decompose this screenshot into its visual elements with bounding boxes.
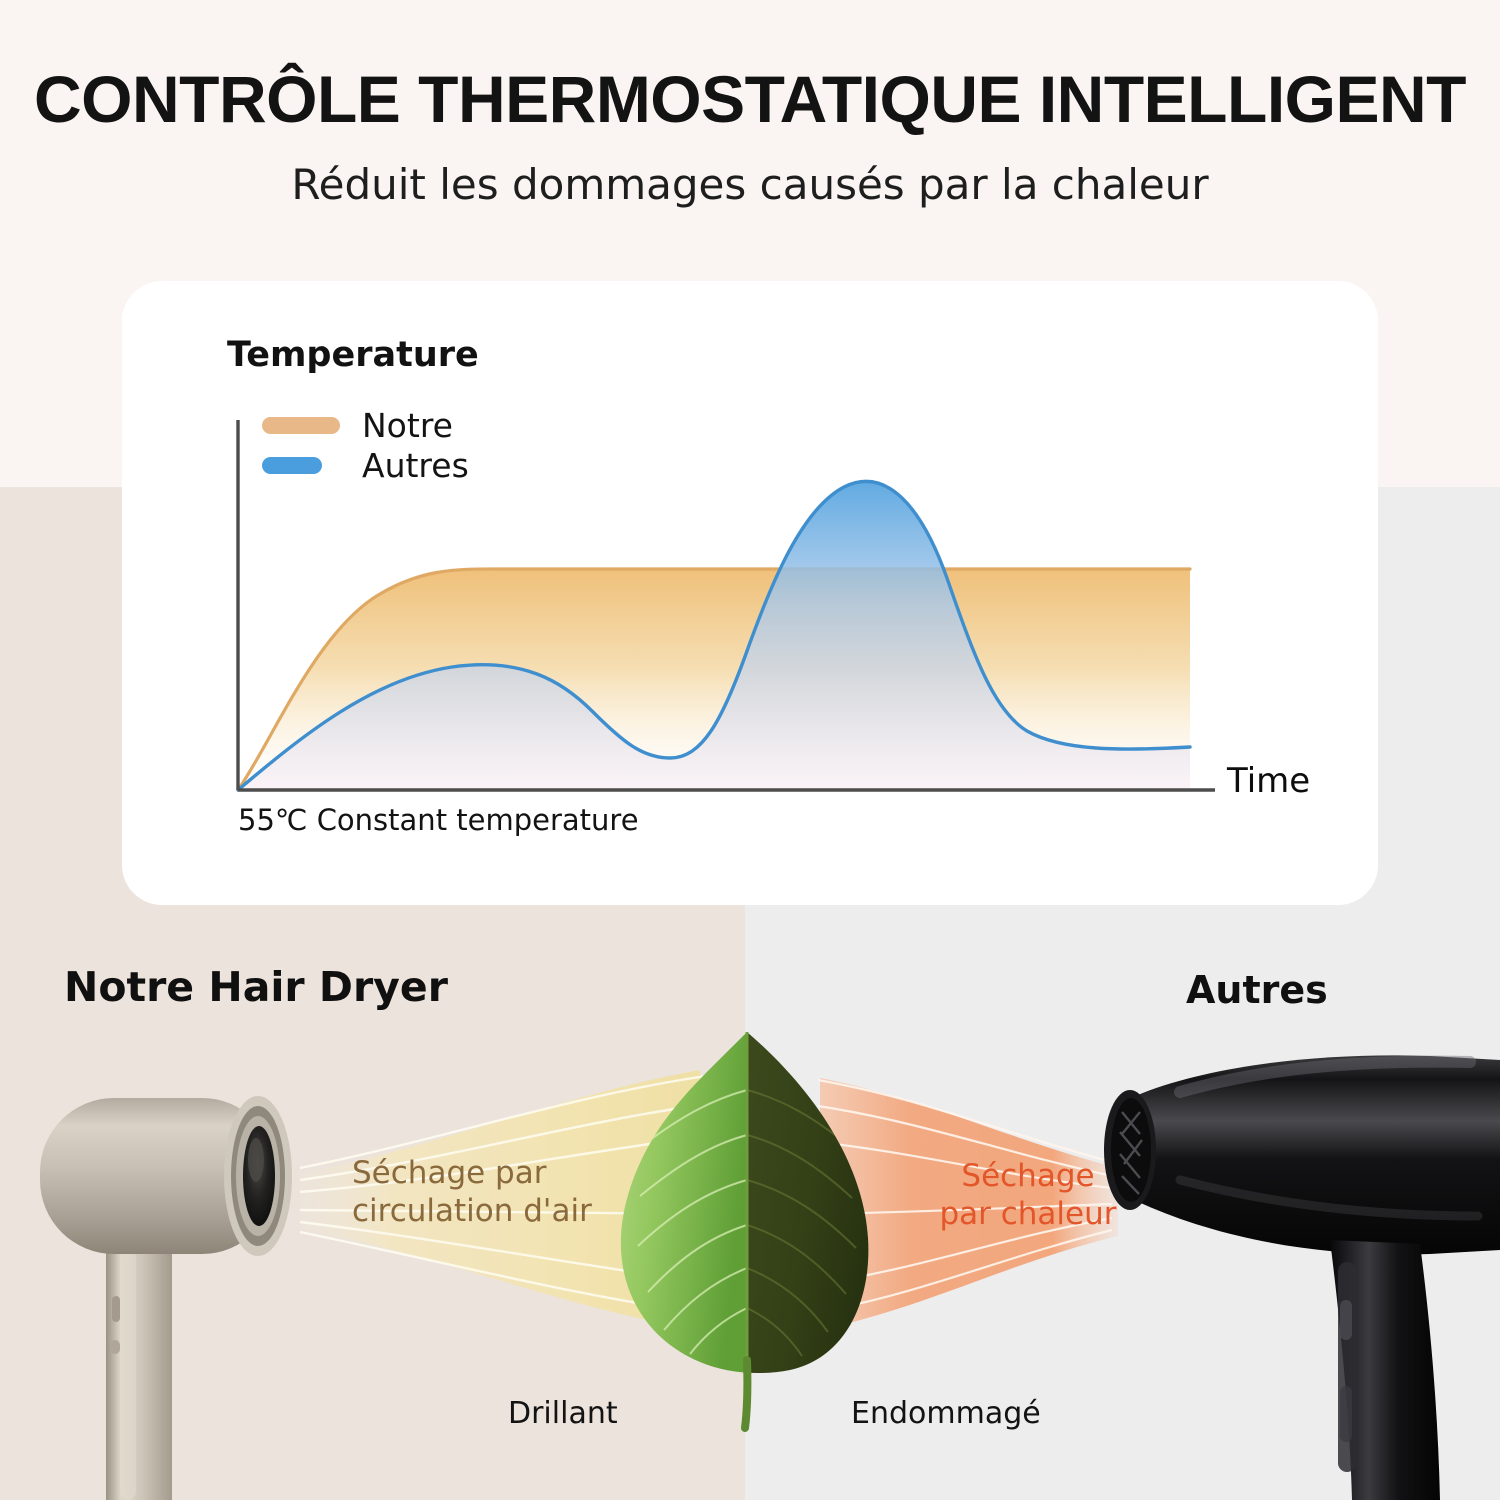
hot-airflow-label: Séchage par chaleur [938, 1158, 1118, 1234]
right-result-caption: Endommagé [851, 1396, 1041, 1431]
right-section-heading: Autres [1186, 968, 1328, 1012]
cool-airflow-label: Séchage par circulation d'air [352, 1155, 612, 1231]
left-result-caption: Drillant [508, 1396, 618, 1431]
our-hair-dryer [40, 1096, 292, 1500]
infographic-canvas: CONTRÔLE THERMOSTATIQUE INTELLIGENT Rédu… [0, 0, 1500, 1500]
other-hair-dryer [1104, 1055, 1500, 1500]
left-section-heading: Notre Hair Dryer [64, 963, 448, 1011]
comparison-illustration [0, 0, 1500, 1500]
